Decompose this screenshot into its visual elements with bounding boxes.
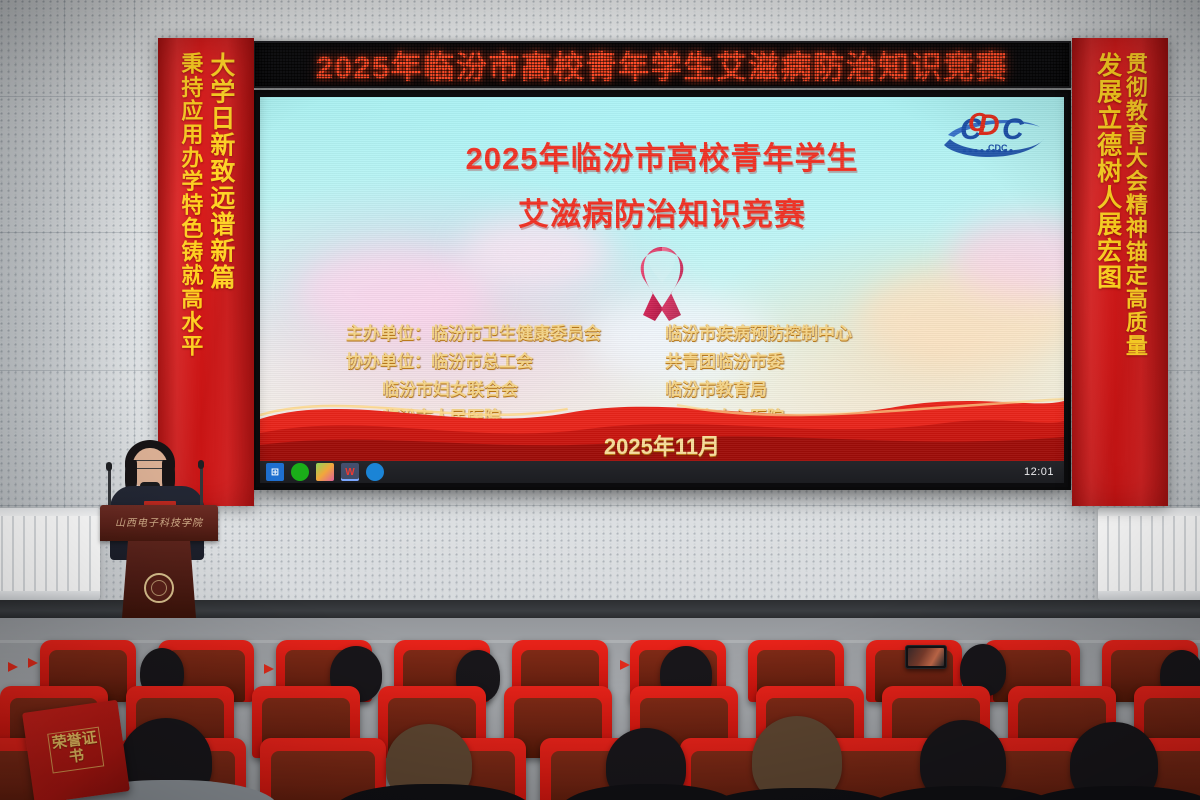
microphone-stem-left <box>108 470 111 510</box>
organizer-co-left: 协办单位：临汾市总工会 <box>260 347 665 372</box>
radiator-left <box>0 508 100 600</box>
slide-title-line-1: 2025年临汾市高校青年学生 <box>260 133 1064 178</box>
wps-glyph: W <box>345 467 354 478</box>
browser-icon[interactable]: ◉ <box>366 463 384 481</box>
smartphone-camera <box>905 645 947 669</box>
wechat-icon[interactable]: ● <box>291 463 309 481</box>
podium-top: 山西电子科技学院 <box>100 505 218 541</box>
start-icon: ⊞ <box>271 467 279 478</box>
radiator-right <box>1098 508 1200 600</box>
phone-screen <box>908 648 944 666</box>
microphone-stem-right <box>200 468 203 510</box>
couplet-right-column-2: 发展立德树人展宏图 <box>1093 52 1120 498</box>
organizer-host-left: 主办单位：临汾市卫生健康委员会 <box>260 319 665 344</box>
microphone-head-left <box>106 462 112 471</box>
taskbar-clock[interactable]: 12:01 <box>1024 466 1058 478</box>
microphone-head-right <box>198 460 204 469</box>
podium: 山西电子科技学院 <box>100 505 218 618</box>
presentation-slide: C D C C ●●●●●●●●● CDC 2025年临汾市高校青年学生 艾滋病… <box>260 97 1064 461</box>
start-button[interactable]: ⊞ <box>266 463 284 481</box>
certificate-title: 荣誉证书 <box>47 727 104 774</box>
slide-date: 2025年11月 <box>260 429 1064 461</box>
organizer-row: 主办单位：临汾市卫生健康委员会 临汾市疾病预防控制中心 <box>260 319 1064 344</box>
led-banner: 2025年临汾市高校青年学生艾滋病防治知识竞赛 <box>253 41 1071 88</box>
organizer-row: 协办单位：临汾市总工会 共青团临汾市委 <box>260 347 1064 372</box>
aids-awareness-ribbon-icon <box>619 245 705 323</box>
organizer-co-right: 共青团临汾市委 <box>665 347 1055 372</box>
honor-certificate-folder: 荣誉证书 <box>22 700 130 800</box>
couplet-left-column-2: 秉持应用办学特色铸就高水平 <box>179 52 202 498</box>
led-banner-text: 2025年临汾市高校青年学生艾滋病防治知识竞赛 <box>255 43 1069 86</box>
couplet-left-column-1: 大学日新致远谱新篇 <box>206 52 233 498</box>
slide-title-line-2: 艾滋病防治知识竞赛 <box>260 189 1064 234</box>
conference-hall-photo: 2025年临汾市高校青年学生艾滋病防治知识竞赛 C D C C ●●●●●●●●… <box>0 0 1200 800</box>
podium-institution-name: 山西电子科技学院 <box>100 514 218 529</box>
banner-couplet-left: 大学日新致远谱新篇 秉持应用办学特色铸就高水平 <box>158 38 254 506</box>
photos-icon[interactable]: ✦ <box>316 463 334 481</box>
wps-writer-icon[interactable]: W <box>341 463 359 481</box>
audience-seating <box>0 620 1200 800</box>
organizer-host-right: 临汾市疾病预防控制中心 <box>665 319 1055 344</box>
banner-couplet-right: 贯彻教育大会精神锚定高质量 发展立德树人展宏图 <box>1072 38 1168 506</box>
couplet-right-column-1: 贯彻教育大会精神锚定高质量 <box>1124 52 1147 498</box>
windows-taskbar[interactable]: ⊞ ● ✦ W ◉ 12:01 <box>260 461 1064 483</box>
projection-screen: C D C C ●●●●●●●●● CDC 2025年临汾市高校青年学生 艾滋病… <box>253 90 1071 490</box>
school-emblem-icon <box>144 573 174 603</box>
